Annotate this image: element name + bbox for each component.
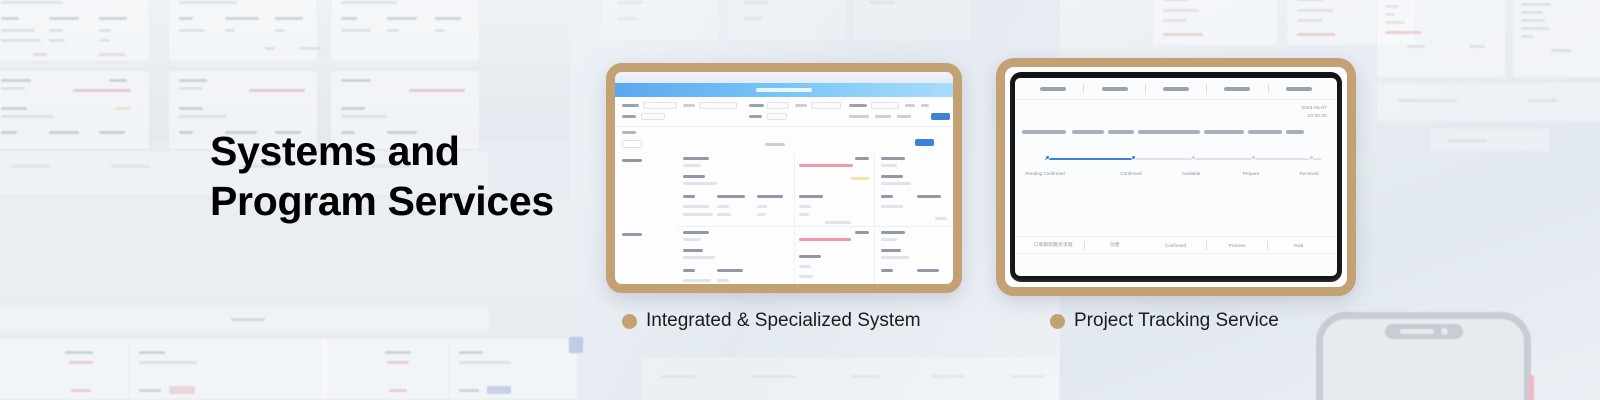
list-item[interactable] bbox=[622, 155, 677, 227]
dashboard-content bbox=[615, 127, 953, 135]
filter-chip[interactable] bbox=[622, 140, 642, 148]
step-dot[interactable] bbox=[1309, 155, 1314, 160]
ghost-card bbox=[1152, 0, 1278, 46]
content-primary-button[interactable] bbox=[915, 139, 934, 146]
caption-label: Integrated & Specialized System bbox=[646, 310, 921, 332]
status-cell[interactable]: Process bbox=[1207, 243, 1268, 248]
tab-last-tracking[interactable] bbox=[1269, 87, 1329, 91]
list-item[interactable] bbox=[622, 229, 677, 284]
ghost-card bbox=[128, 338, 328, 400]
toolbar-primary-button[interactable] bbox=[931, 113, 950, 120]
stepper-fill bbox=[1045, 158, 1133, 160]
ghost-chip bbox=[568, 336, 584, 354]
tablet-bezel: 2024-05-07 10:00:00 bbox=[1010, 72, 1342, 282]
list-item[interactable] bbox=[795, 155, 875, 227]
dashboard-title-text bbox=[756, 88, 812, 92]
showcase-integrated-system[interactable] bbox=[606, 63, 962, 293]
speaker-icon bbox=[1400, 329, 1434, 334]
tab-next-tracking[interactable] bbox=[1207, 87, 1267, 91]
list-item[interactable] bbox=[795, 229, 875, 284]
step-label: Pending Confirmed bbox=[1025, 171, 1064, 176]
list-item[interactable] bbox=[875, 229, 953, 284]
dashboard-title-bar bbox=[615, 83, 953, 97]
step-dot[interactable] bbox=[1251, 155, 1256, 160]
breadcrumb bbox=[1022, 130, 1330, 134]
step-label: Available bbox=[1182, 171, 1201, 176]
list-item[interactable] bbox=[677, 155, 795, 227]
status-cell[interactable]: Confirmed bbox=[1145, 243, 1206, 248]
progress-stepper[interactable]: Pending Confirmed Confirmed Available Pr… bbox=[1031, 154, 1327, 188]
ghost-card bbox=[726, 0, 846, 42]
ghost-card bbox=[330, 0, 480, 62]
showcase-project-tracking[interactable]: 2024-05-07 10:00:00 bbox=[996, 58, 1356, 296]
camera-icon bbox=[1441, 328, 1448, 335]
ghost-card bbox=[448, 338, 578, 400]
caption-integrated-system: Integrated & Specialized System bbox=[622, 310, 921, 332]
step-label: Prepare bbox=[1243, 171, 1259, 176]
list-item[interactable] bbox=[875, 155, 953, 227]
step-label: Received bbox=[1299, 171, 1318, 176]
bullet-icon bbox=[622, 314, 637, 329]
ghost-card bbox=[168, 0, 318, 62]
tab-select-location[interactable] bbox=[1084, 87, 1144, 91]
ghost-card bbox=[0, 70, 150, 150]
phone-side-button bbox=[1529, 375, 1534, 400]
step-label: Confirmed bbox=[1120, 171, 1141, 176]
step-dot[interactable] bbox=[1131, 155, 1136, 160]
step-dot[interactable] bbox=[1045, 155, 1050, 160]
status-cell[interactable]: 创建 bbox=[1085, 242, 1146, 248]
tracking-status-row[interactable]: 订单跟踪服务流程 创建 Confirmed Process P bbox=[1015, 236, 1337, 254]
gold-frame: 2024-05-07 10:00:00 bbox=[996, 58, 1356, 296]
step-dot[interactable] bbox=[1191, 155, 1196, 160]
page-title: Systems and Program Services bbox=[210, 126, 554, 226]
ghost-card bbox=[0, 0, 150, 62]
ghost-header bbox=[0, 306, 490, 332]
status-cell[interactable]: 订单跟踪服务流程 bbox=[1023, 242, 1084, 248]
status-cell[interactable]: Paid bbox=[1268, 243, 1329, 248]
dashboard-screenshot bbox=[615, 72, 953, 284]
ghost-strip bbox=[640, 356, 1060, 400]
ghost-card bbox=[852, 0, 972, 42]
ghost-card bbox=[1512, 0, 1600, 78]
caption-project-tracking: Project Tracking Service bbox=[1050, 310, 1279, 332]
tracking-time: 10:00:00 bbox=[1302, 112, 1328, 120]
phone-notch bbox=[1385, 324, 1463, 339]
ghost-card bbox=[1376, 0, 1506, 78]
tab-project-name[interactable] bbox=[1023, 87, 1083, 91]
caption-label: Project Tracking Service bbox=[1074, 310, 1279, 332]
gold-frame bbox=[606, 63, 962, 293]
ghost-card bbox=[600, 0, 720, 42]
ghost-card bbox=[0, 338, 130, 400]
tracking-date: 2024-05-07 bbox=[1302, 104, 1328, 112]
tracking-screenshot: 2024-05-07 10:00:00 bbox=[1015, 78, 1337, 276]
dashboard-toolbar[interactable] bbox=[615, 97, 953, 127]
list-item[interactable] bbox=[677, 229, 795, 284]
ghost-strip bbox=[1430, 128, 1550, 152]
tab-all-results[interactable] bbox=[1146, 87, 1206, 91]
tracking-tab-bar[interactable] bbox=[1015, 78, 1337, 100]
browser-chrome-strip bbox=[615, 72, 953, 83]
ghost-card bbox=[320, 338, 450, 400]
bullet-icon bbox=[1050, 314, 1065, 329]
tracking-timestamp: 2024-05-07 10:00:00 bbox=[1302, 104, 1328, 120]
ghost-strip bbox=[1376, 82, 1600, 122]
phone-device-outline bbox=[1316, 312, 1531, 400]
